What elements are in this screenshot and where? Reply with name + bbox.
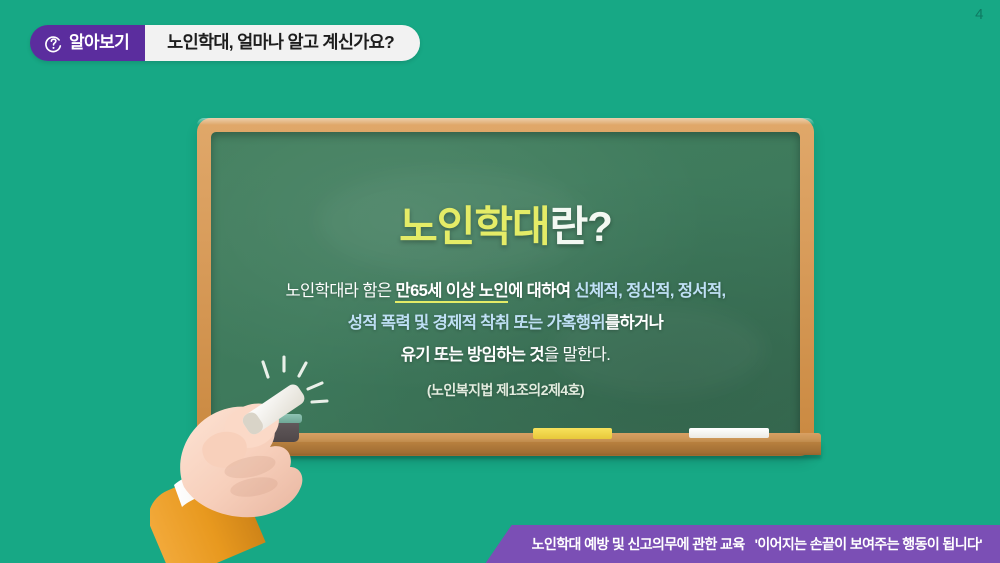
text-segment-accent: 가혹행위 bbox=[547, 314, 605, 332]
header-title: 노인학대, 얼마나 알고 계신가요? bbox=[167, 34, 394, 53]
board-title-rest: 란? bbox=[550, 203, 612, 250]
white-chalk-icon bbox=[689, 428, 769, 438]
header-badge: 알아보기 bbox=[30, 25, 145, 61]
text-segment: 를하거나 bbox=[605, 314, 663, 332]
text-segment: 노인학대라 함은 bbox=[285, 282, 395, 300]
board-title: 노인학대란? bbox=[211, 204, 800, 249]
text-segment: 유기 또는 방임하는 것 bbox=[401, 346, 544, 364]
text-segment: 을 말한다. bbox=[544, 346, 610, 364]
hand-holding-chalk-illustration bbox=[150, 355, 360, 563]
text-segment-accent: 성적 폭력 및 경제적 착취 또는 bbox=[348, 314, 547, 332]
header-title-container: 노인학대, 얼마나 알고 계신가요? bbox=[145, 25, 420, 61]
header-badge-label: 알아보기 bbox=[69, 34, 129, 52]
board-title-highlight: 노인학대 bbox=[399, 203, 550, 250]
page-number: 4 bbox=[975, 6, 984, 23]
text-segment-accent: 신체적, 정신적, 정서적, bbox=[574, 282, 725, 300]
header-pill: 알아보기 노인학대, 얼마나 알고 계신가요? bbox=[30, 25, 420, 61]
board-body-line-2: 성적 폭력 및 경제적 착취 또는 가혹행위를하거나 bbox=[211, 308, 800, 340]
question-circle-icon bbox=[44, 34, 63, 53]
footer-bar: 노인학대 예방 및 신고의무에 관한 교육 '이어지는 손끝이 보여주는 행동이… bbox=[486, 525, 1000, 563]
text-segment-underlined: 만65세 이상 노인 bbox=[395, 282, 508, 303]
footer-quote: '이어지는 손끝이 보여주는 행동이 됩니다' bbox=[755, 537, 982, 551]
yellow-chalk-icon bbox=[533, 428, 612, 439]
text-segment: 에 대하여 bbox=[508, 282, 574, 300]
board-body-line-1: 노인학대라 함은 만65세 이상 노인에 대하여 신체적, 정신적, 정서적, bbox=[211, 276, 800, 308]
footer-text: 노인학대 예방 및 신고의무에 관한 교육 bbox=[532, 537, 745, 551]
